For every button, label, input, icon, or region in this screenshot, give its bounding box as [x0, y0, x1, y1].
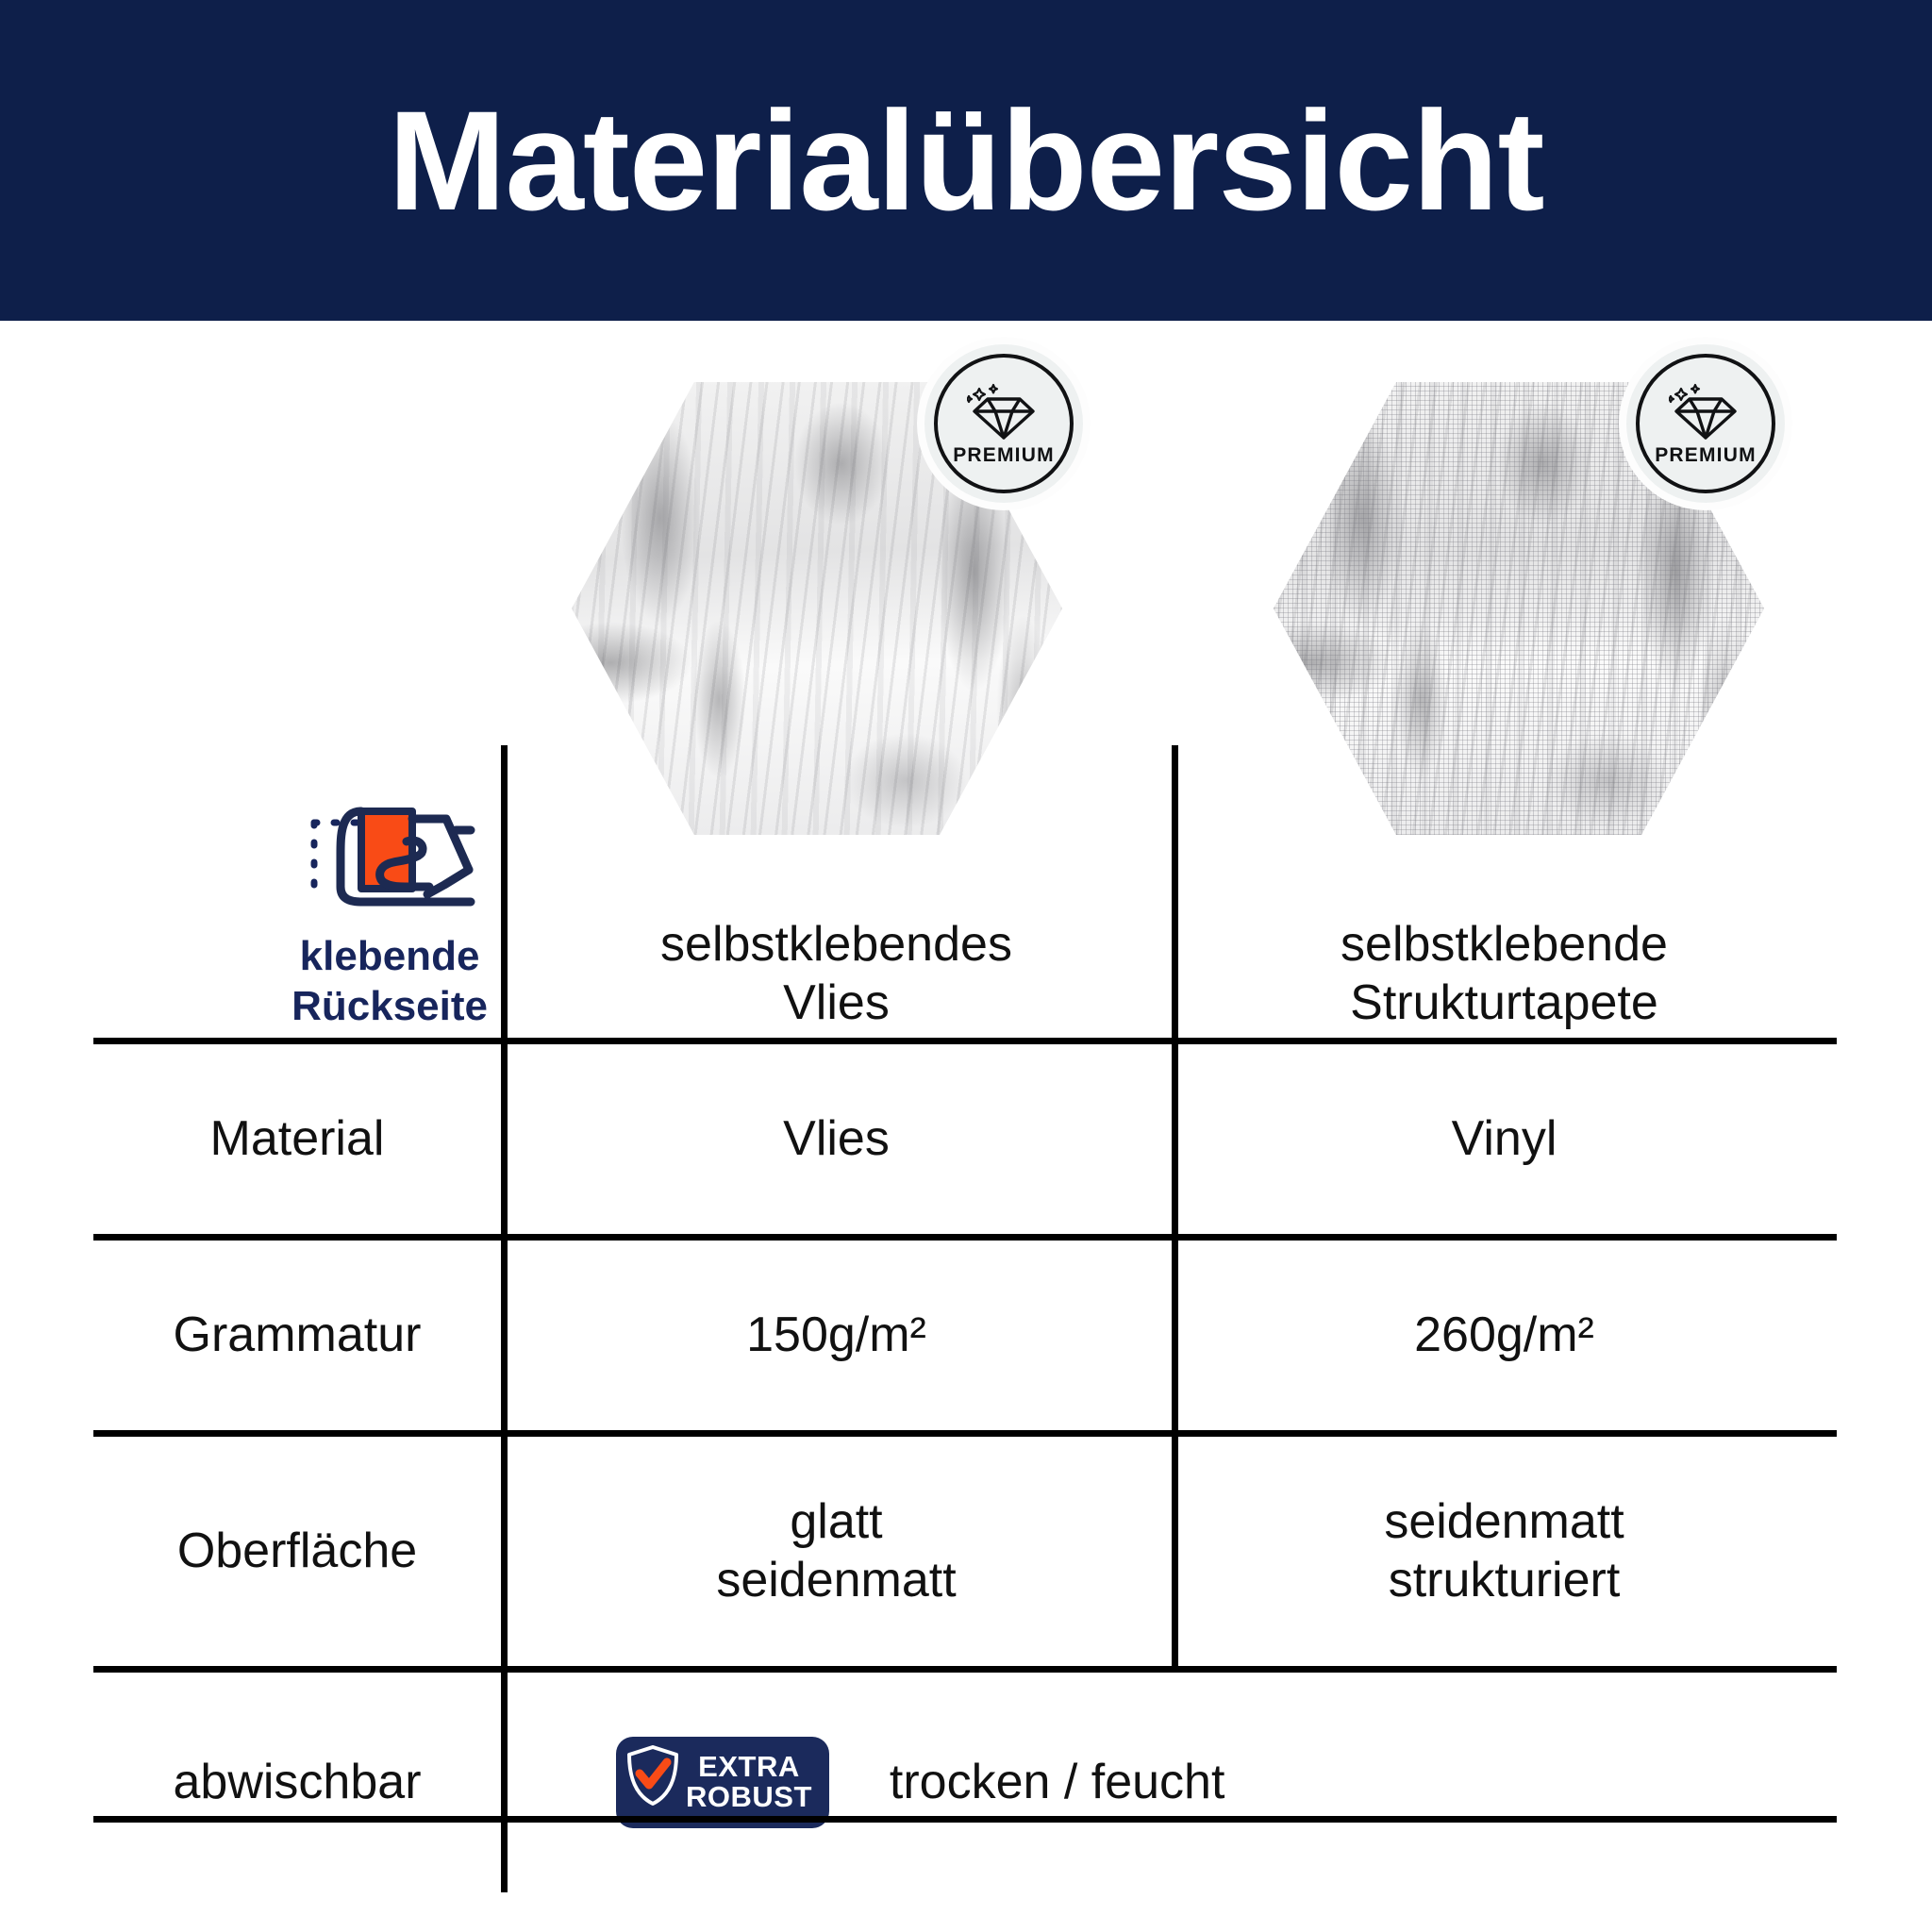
material-spec-table: klebende Rückseite selbstklebendes Vlies…: [93, 745, 1837, 1892]
cell-material-strukturtapete: Vinyl: [1172, 1044, 1837, 1234]
premium-badge-strukturtapete: PREMIUM: [1626, 344, 1785, 503]
diamond-icon: [1669, 381, 1742, 441]
table-row: Material Vlies Vinyl: [93, 1038, 1837, 1234]
row-label-material: Material: [93, 1044, 501, 1234]
cell-oberflaeche-vlies-line2: seidenmatt: [716, 1552, 956, 1609]
diamond-icon: [967, 381, 1041, 441]
column-header-strukturtapete-line2: Strukturtapete: [1341, 974, 1668, 1032]
page-title: Materialübersicht: [388, 90, 1543, 231]
table-row: Oberfläche glatt seidenmatt seidenmatt s…: [93, 1430, 1837, 1666]
cell-oberflaeche-strukturtapete: seidenmatt strukturiert: [1172, 1437, 1837, 1666]
table-bottom-rule: [93, 1816, 1837, 1823]
cell-oberflaeche-strukturtapete-line2: strukturiert: [1384, 1552, 1624, 1609]
column-header-strukturtapete: selbstklebende Strukturtapete: [1172, 745, 1837, 1038]
premium-label: PREMIUM: [953, 444, 1055, 467]
column-divider-2: [1172, 1437, 1178, 1666]
shield-check-icon: [625, 1744, 680, 1820]
adhesive-label-line2: Rückseite: [291, 982, 488, 1032]
column-header-vlies-line1: selbstklebendes: [660, 916, 1012, 974]
table-header-row: klebende Rückseite selbstklebendes Vlies…: [93, 745, 1837, 1038]
premium-label: PREMIUM: [1655, 444, 1757, 467]
row-label-abwischbar: abwischbar: [93, 1673, 501, 1892]
column-divider-1: [501, 1044, 508, 1234]
extra-robust-line1: EXTRA: [686, 1752, 812, 1782]
page-header: Materialübersicht: [0, 0, 1932, 321]
cell-oberflaeche-strukturtapete-line1: seidenmatt: [1384, 1493, 1624, 1551]
column-header-vlies-line2: Vlies: [660, 974, 1012, 1032]
adhesive-label-line1: klebende: [291, 932, 488, 982]
peel-adhesive-icon: [303, 798, 488, 923]
extra-robust-badge: EXTRA ROBUST: [616, 1737, 829, 1827]
column-divider-2: [1172, 1044, 1178, 1234]
column-divider-1: [501, 1437, 508, 1666]
column-divider-1: [501, 1673, 508, 1892]
column-divider-2: [1172, 1241, 1178, 1430]
cell-material-vlies: Vlies: [501, 1044, 1172, 1234]
extra-robust-line2: ROBUST: [686, 1782, 812, 1812]
adhesive-backing-cell: klebende Rückseite: [93, 745, 501, 1038]
column-header-vlies: selbstklebendes Vlies: [501, 745, 1172, 1038]
cell-grammatur-vlies: 150g/m²: [501, 1241, 1172, 1430]
row-label-oberflaeche: Oberfläche: [93, 1437, 501, 1666]
cell-oberflaeche-vlies-line1: glatt: [716, 1493, 956, 1551]
premium-badge-vlies: PREMIUM: [924, 344, 1083, 503]
cell-grammatur-strukturtapete: 260g/m²: [1172, 1241, 1837, 1430]
column-divider-2: [1172, 745, 1178, 1038]
cell-oberflaeche-vlies: glatt seidenmatt: [501, 1437, 1172, 1666]
column-divider-1: [501, 1241, 508, 1430]
wipe-value-text: trocken / feucht: [890, 1754, 1225, 1811]
column-divider-1: [501, 745, 508, 1038]
cell-abwischbar-value: EXTRA ROBUST trocken / feucht: [501, 1673, 1837, 1892]
row-label-grammatur: Grammatur: [93, 1241, 501, 1430]
table-row: Grammatur 150g/m² 260g/m²: [93, 1234, 1837, 1430]
column-header-strukturtapete-line1: selbstklebende: [1341, 916, 1668, 974]
table-row: abwischbar EXTRA ROBUST trocken / feucht: [93, 1666, 1837, 1892]
